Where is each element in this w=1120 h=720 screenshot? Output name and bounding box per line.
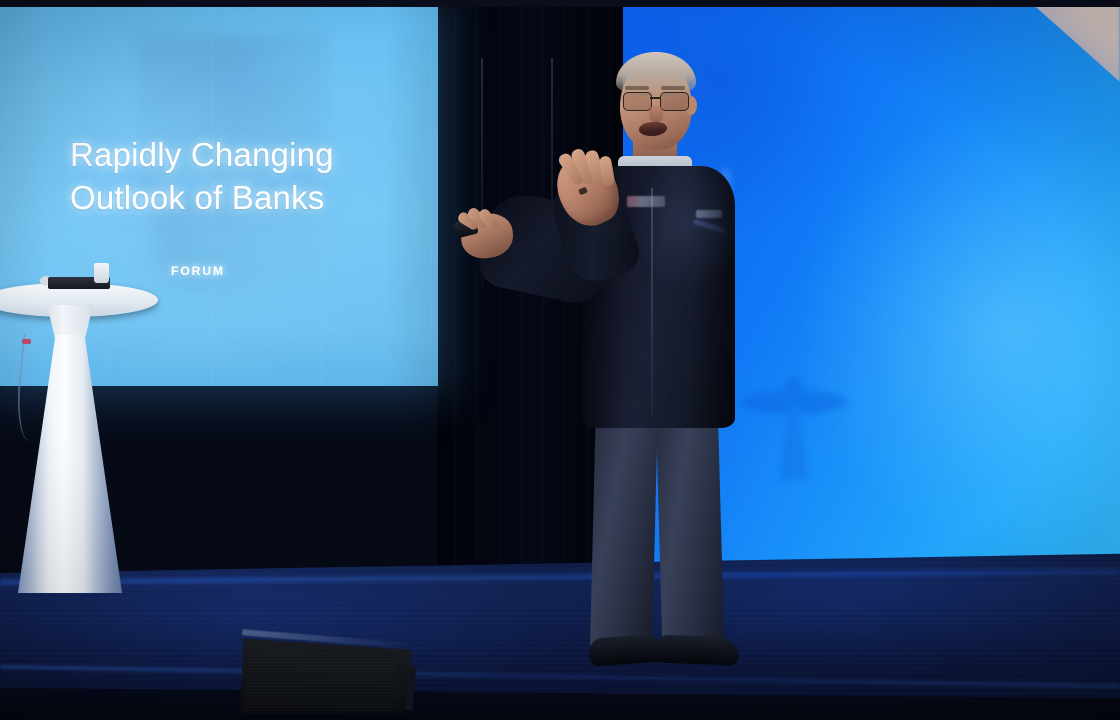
ghost-table-base [781, 406, 807, 480]
glasses-bridge [650, 97, 660, 99]
glasses-lens-right [660, 92, 689, 111]
jacket-zipper [651, 188, 653, 416]
white-pedestal-table [0, 283, 158, 595]
conference-stage-photo: Rapidly Changing Outlook of Banks FORUM [0, 0, 1120, 720]
presenter-eyebrow-left [625, 86, 649, 90]
stage-monitor-speaker [240, 631, 412, 713]
slide-brand-label: FORUM [171, 264, 225, 278]
presenter-leg-right [655, 399, 724, 653]
ceiling-dark-strip [0, 0, 1120, 7]
glasses-lens-left [623, 92, 652, 111]
presenter-eyebrow-right [661, 86, 685, 90]
slide-title-line-2: Outlook of Banks [70, 176, 410, 219]
presenter-leg-left [590, 399, 658, 652]
slide-title-block: Rapidly Changing Outlook of Banks [70, 133, 410, 219]
presenter-figure [455, 48, 765, 668]
table-item-cup [94, 263, 109, 283]
jacket-sleeve-logo-icon [696, 210, 722, 218]
pedestal-cable-connector [22, 339, 31, 344]
presenter-nose [649, 106, 663, 123]
table-top-items [40, 273, 126, 291]
jacket-chest-logo-icon [627, 196, 665, 207]
slide-title-line-1: Rapidly Changing [70, 133, 410, 176]
presenter-legs [593, 400, 729, 658]
presenter-shoe-right [655, 635, 740, 666]
